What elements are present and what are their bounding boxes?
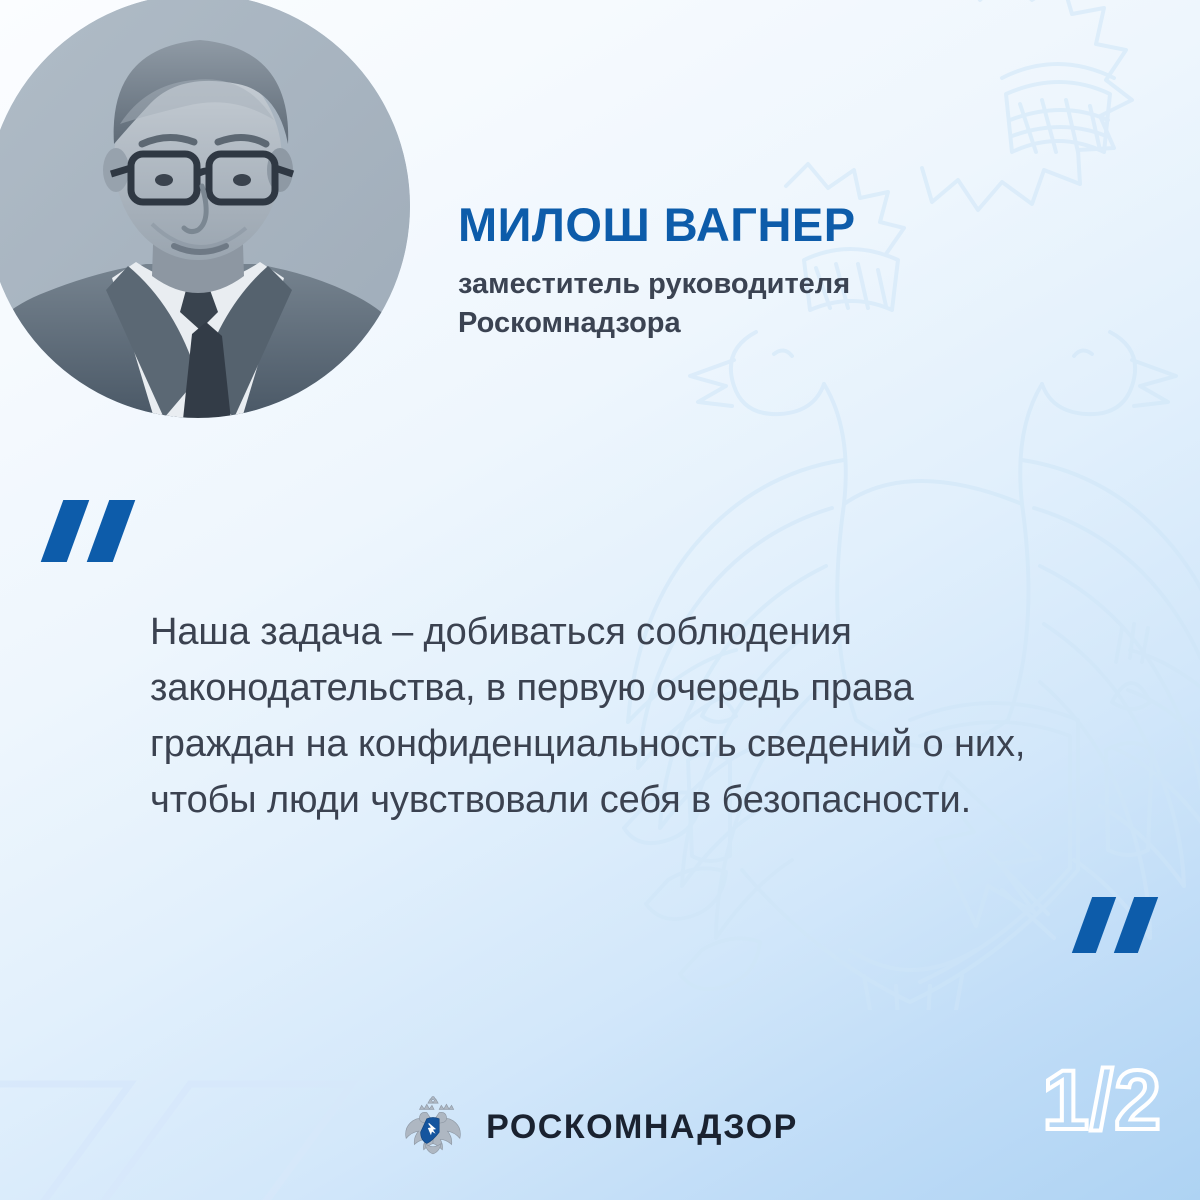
footer-brand: РОСКОМНАДЗОР [0, 1096, 1200, 1158]
double-headed-eagle-watermark-icon [550, 0, 1200, 1010]
double-headed-eagle-emblem-icon [402, 1096, 464, 1158]
quote-bar-right [87, 500, 136, 562]
speaker-portrait [0, 0, 410, 418]
quote-text: Наша задача – добиваться соблюдения зако… [150, 605, 1030, 828]
quote-bar-left [1072, 897, 1116, 953]
quote-mark-icon-end [1078, 897, 1198, 967]
quote-card: МИЛОШ ВАГНЕР заместитель руководителя Ро… [0, 0, 1200, 1200]
quote-bar-right [1114, 897, 1158, 953]
footer-brand-name: РОСКОМНАДЗОР [486, 1108, 798, 1147]
speaker-name: МИЛОШ ВАГНЕР [458, 200, 1098, 249]
quote-mark-icon [46, 500, 166, 570]
speaker-role: заместитель руководителя Роскомнадзора [458, 265, 928, 342]
quote-bar-left [41, 500, 90, 562]
speaker-info: МИЛОШ ВАГНЕР заместитель руководителя Ро… [458, 200, 1098, 342]
